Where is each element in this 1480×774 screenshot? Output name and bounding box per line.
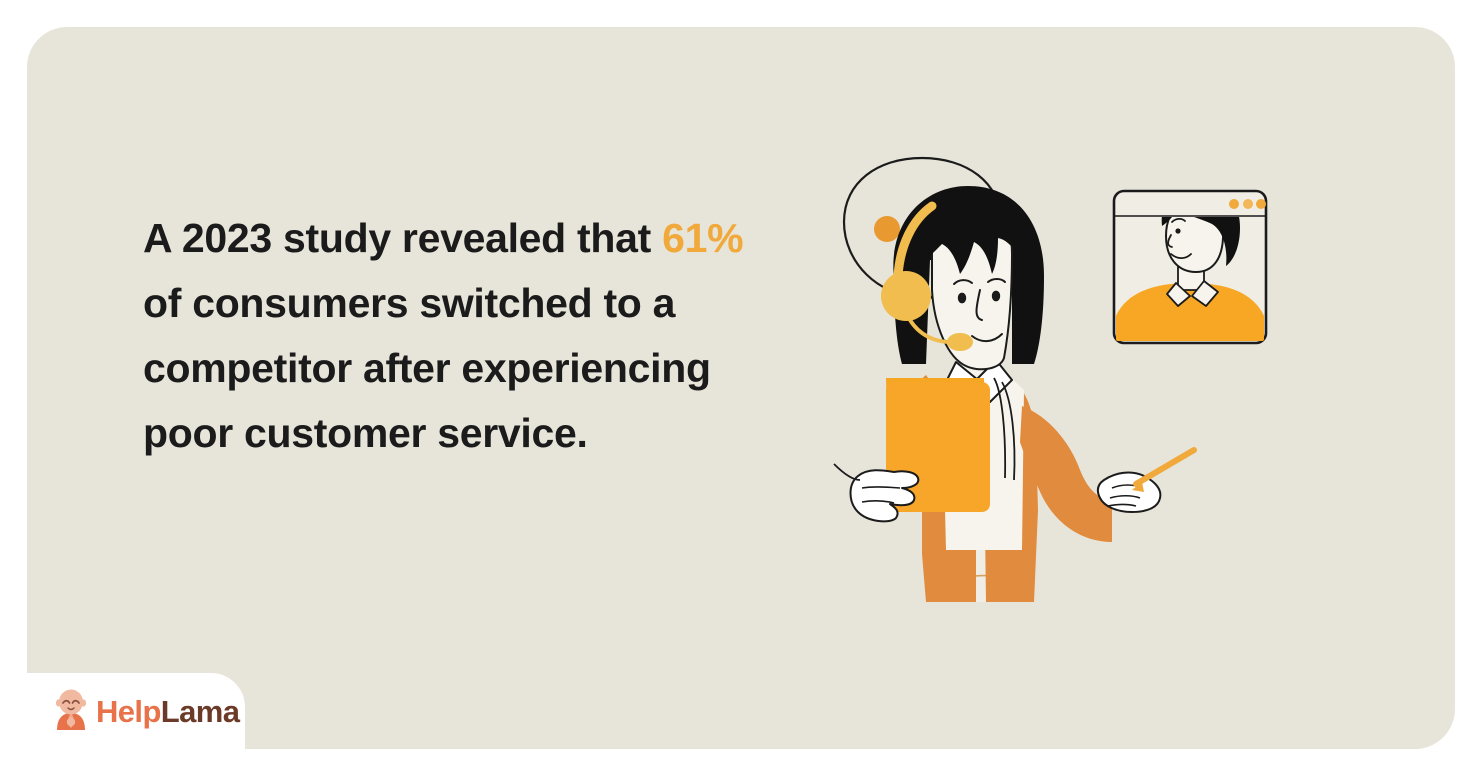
window-dot-2: [1243, 199, 1253, 209]
headset-microphone: [947, 333, 973, 351]
statistic-highlight: 61%: [662, 215, 743, 261]
headline-part-2: of consumers switched to a competitor af…: [143, 280, 711, 456]
window-dot-1: [1229, 199, 1239, 209]
brand-name-part-1: Help: [96, 694, 161, 729]
customer-support-illustration: [826, 150, 1296, 620]
brand-logo[interactable]: HelpLama: [48, 688, 239, 734]
video-call-window: [1110, 184, 1270, 346]
headset-earcup: [881, 271, 931, 321]
brand-name: HelpLama: [96, 696, 239, 727]
agent-right-hand: [1098, 450, 1194, 512]
brand-name-part-2: Lama: [161, 694, 240, 729]
agent-left-hand: [834, 464, 918, 521]
monk-mascot-icon: [48, 688, 94, 734]
page-title: A 2023 study revealed that 61% of consum…: [143, 206, 753, 466]
headline-part-1: A 2023 study revealed that: [143, 215, 662, 261]
typing-dot-1: [874, 216, 900, 242]
stylus-pointer-icon: [1136, 450, 1194, 484]
window-dot-3: [1256, 199, 1266, 209]
infographic-canvas: A 2023 study revealed that 61% of consum…: [0, 0, 1480, 774]
